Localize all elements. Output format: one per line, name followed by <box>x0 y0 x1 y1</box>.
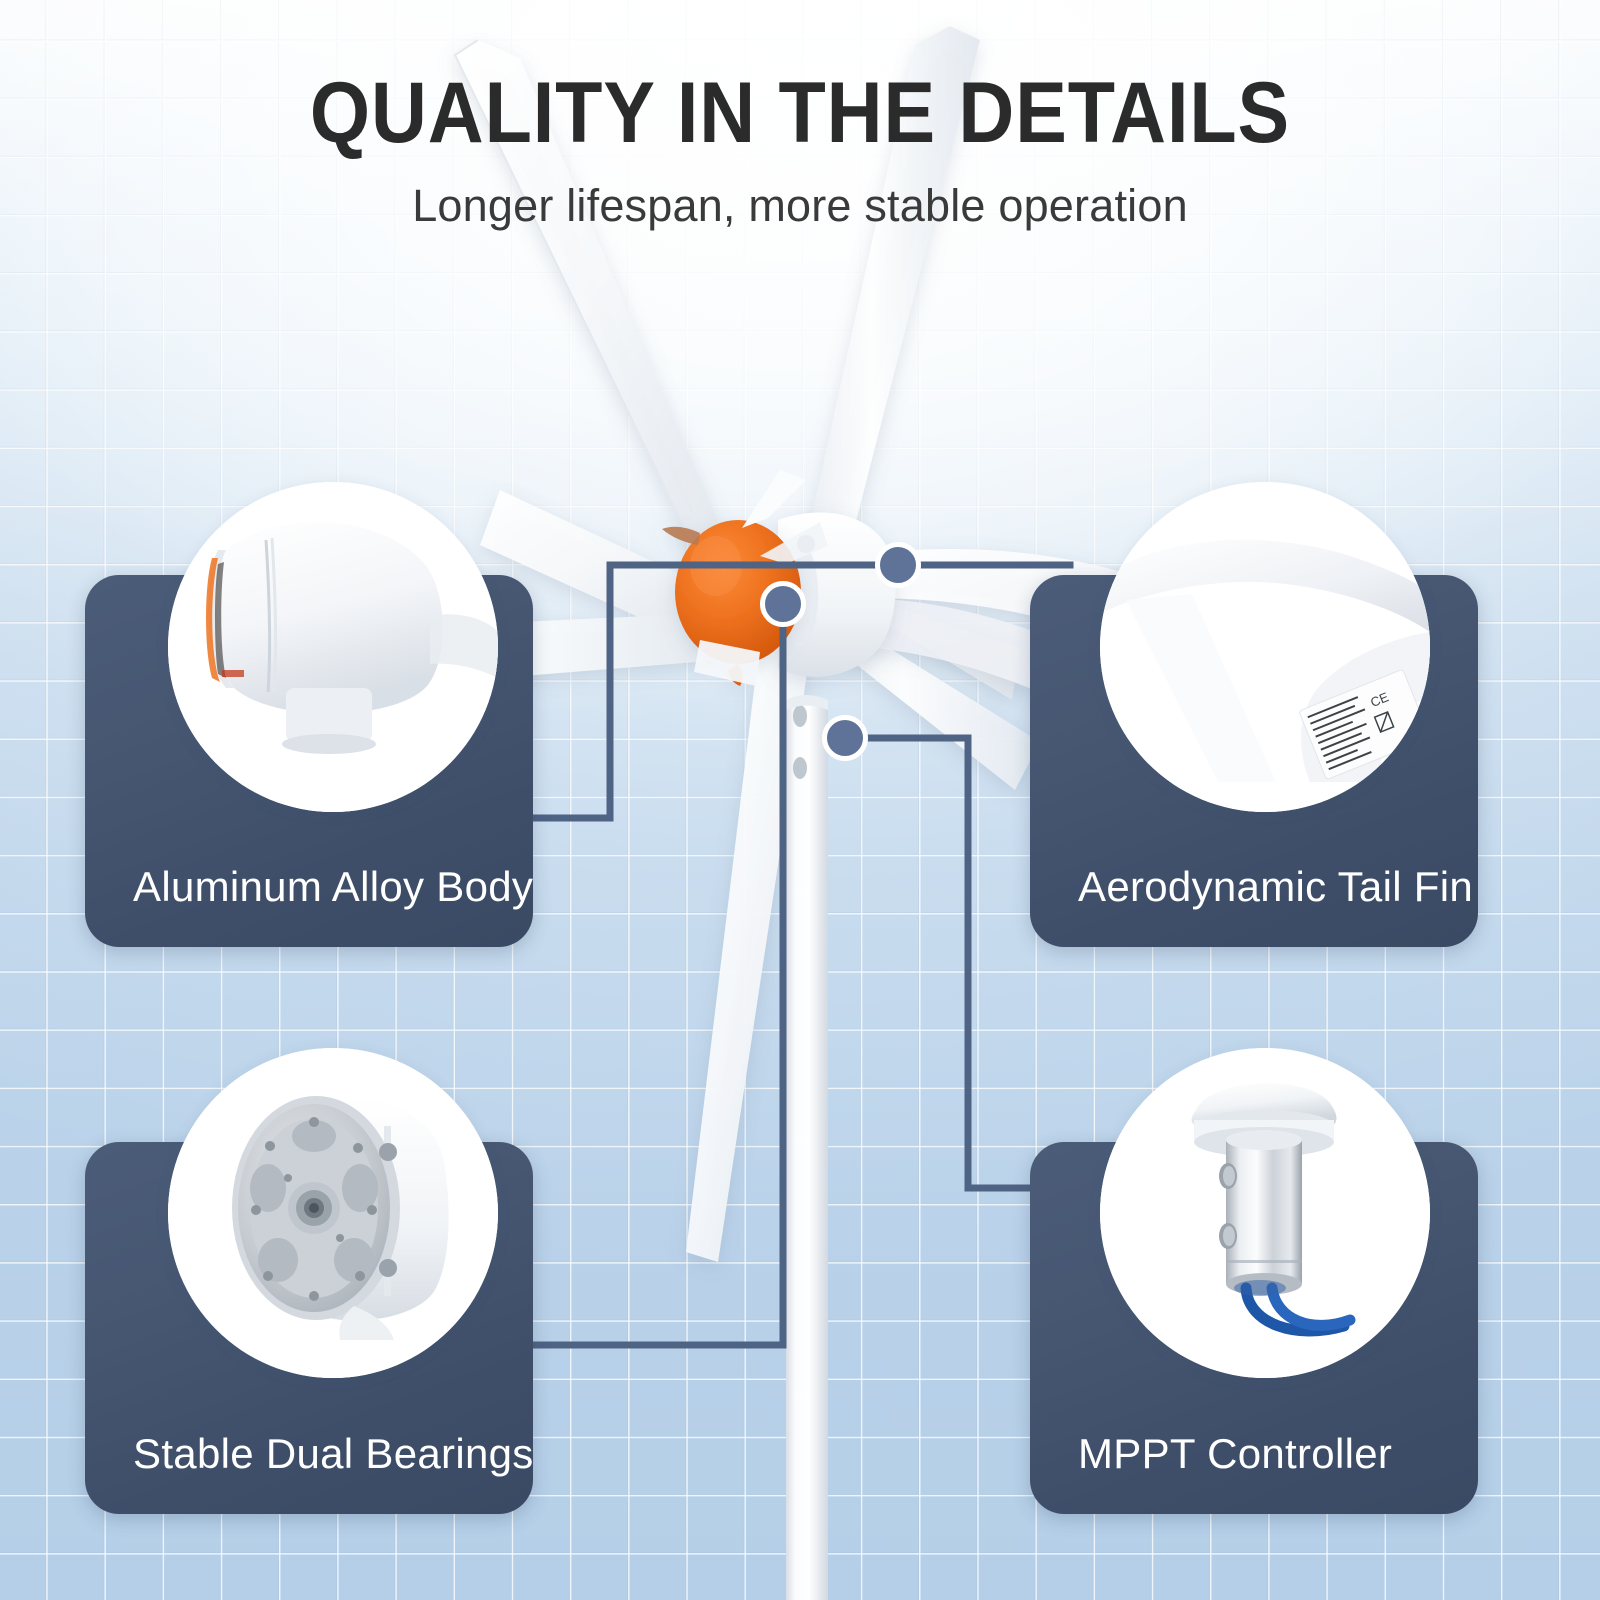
feature-label-aerodynamic-tail-fin: Aerodynamic Tail Fin <box>1030 827 1478 947</box>
page-title: QUALITY IN THE DETAILS <box>80 70 1520 156</box>
infographic-canvas: Aluminum Alloy Body Aerodyna <box>0 0 1600 1600</box>
bearing-rotor-photo <box>168 1048 498 1378</box>
connector-aluminum-alloy-body <box>533 565 880 818</box>
node-nacelle-dot[interactable] <box>760 581 806 627</box>
nacelle-housing-photo <box>168 482 498 812</box>
node-tail-fin-dot[interactable] <box>875 542 921 588</box>
feature-label-stable-dual-bearings: Stable Dual Bearings <box>85 1394 533 1514</box>
controller-shaft-photo <box>1100 1048 1430 1378</box>
feature-label-aluminum-alloy-body: Aluminum Alloy Body <box>85 827 533 947</box>
page-subtitle: Longer lifespan, more stable operation <box>0 180 1600 232</box>
feature-label-mppt-controller: MPPT Controller <box>1030 1394 1478 1514</box>
tail-fin-photo: CE <box>1100 482 1430 812</box>
header: QUALITY IN THE DETAILS Longer lifespan, … <box>0 70 1600 232</box>
connector-stable-dual-bearings <box>533 622 783 1345</box>
node-mppt-dot[interactable] <box>822 715 868 761</box>
